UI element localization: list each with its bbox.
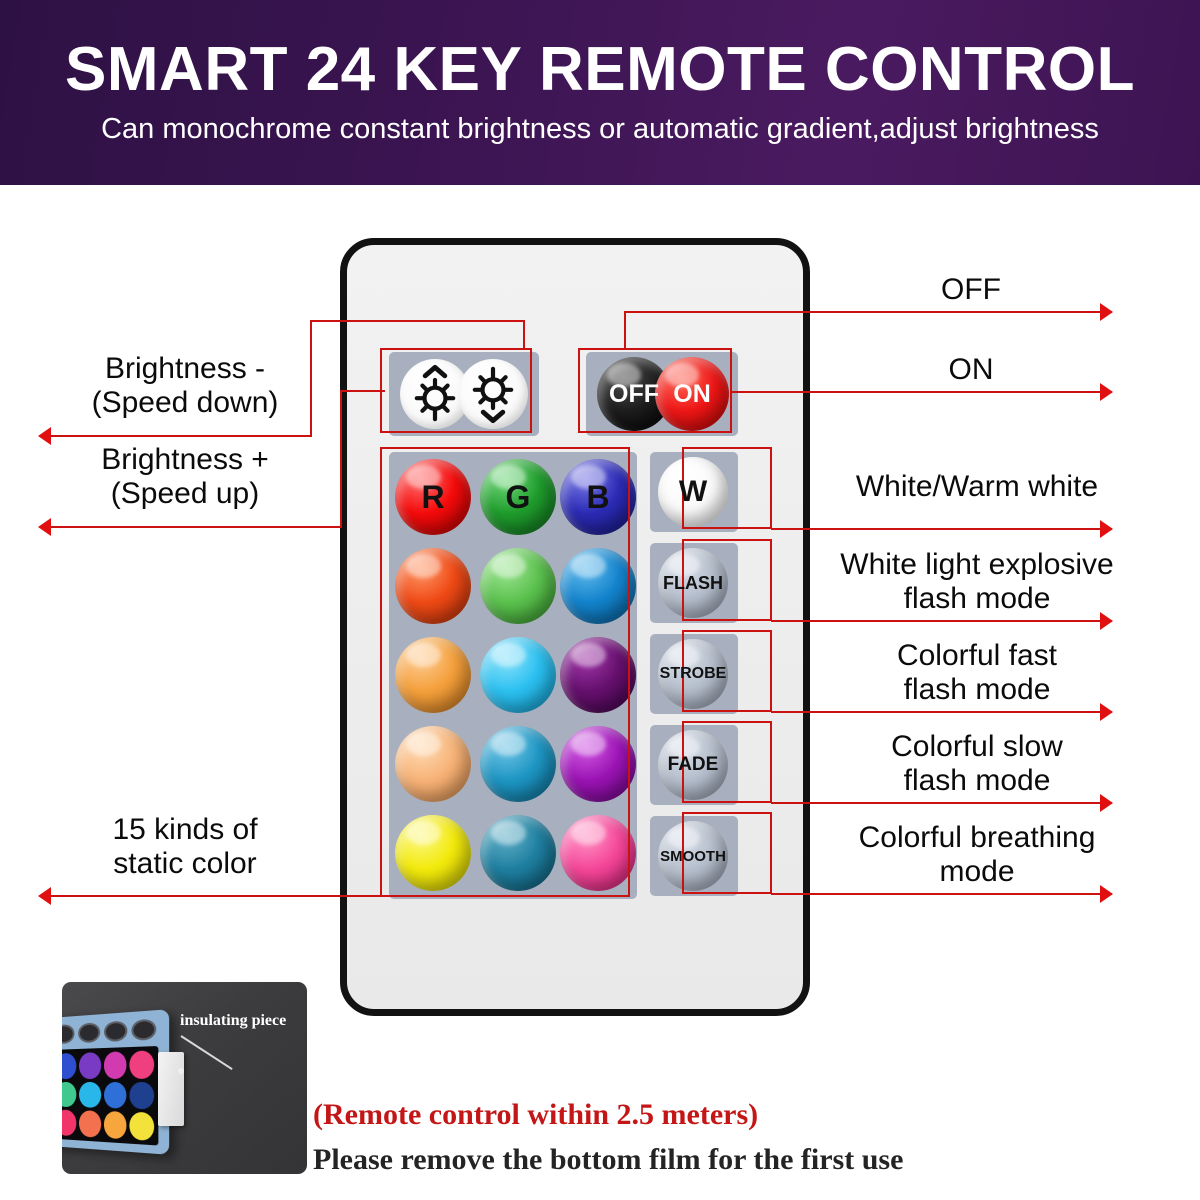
callout-on: ON [826, 353, 1116, 387]
mode-button-strobe-label: STROBE [658, 639, 728, 709]
callout-smooth: Colorful breathing mode [812, 821, 1142, 888]
header-banner: SMART 24 KEY REMOTE CONTROL Can monochro… [0, 0, 1200, 185]
leader-brightness-down-h-bot [42, 435, 312, 437]
photo-color-dot [62, 1082, 76, 1108]
mode-button-flash-label: FLASH [658, 548, 728, 618]
callout-static-colors-line1: 15 kinds of [40, 813, 330, 847]
callout-brightness-down-line1: Brightness - [40, 352, 330, 386]
mode-button-w[interactable]: W [658, 457, 728, 527]
callout-on-line1: ON [826, 353, 1116, 387]
color-button-b-label: B [560, 459, 636, 535]
photo-color-dot [130, 1050, 154, 1078]
leader-brightness-down-h-top [310, 320, 525, 322]
callout-brightness-up-line2: (Speed up) [40, 477, 330, 511]
on-button-label: ON [655, 357, 729, 431]
arrow-white [1100, 520, 1113, 538]
photo-top-button [131, 1019, 156, 1041]
photo-color-dot [79, 1111, 101, 1138]
photo-color-dot [79, 1052, 101, 1079]
page-subtitle: Can monochrome constant brightness or au… [0, 113, 1200, 146]
leader-brightness-down-v [523, 320, 525, 350]
mode-button-smooth-label: SMOOTH [658, 821, 728, 891]
arrow-static-colors [38, 887, 51, 905]
callout-fade: Colorful slow flash mode [812, 730, 1142, 797]
leader-static-colors-h [42, 895, 382, 897]
leader-brightness-up-h-top [340, 390, 385, 392]
photo-color-dot [104, 1111, 127, 1139]
mode-button-flash[interactable]: FLASH [658, 548, 728, 618]
callout-static-colors: 15 kinds of static color [40, 813, 330, 880]
photo-remote-body [62, 1009, 169, 1155]
photo-color-dot [62, 1110, 76, 1137]
on-button[interactable]: ON [655, 357, 729, 431]
leader-on-h [731, 391, 1112, 393]
mode-button-fade-label: FADE [658, 730, 728, 800]
color-button-r[interactable]: R [395, 459, 471, 535]
callout-brightness-up-line1: Brightness + [40, 443, 330, 477]
callout-strobe-line1: Colorful fast [812, 639, 1142, 673]
leader-white-h [771, 528, 1112, 530]
photo-top-button-row [62, 1016, 158, 1046]
callout-off-line1: OFF [826, 273, 1116, 307]
leader-off-v [624, 311, 626, 349]
color-button-r-label: R [395, 459, 471, 535]
photo-color-dot [62, 1053, 76, 1079]
photo-color-dot [130, 1112, 154, 1141]
callout-strobe-line2: flash mode [812, 673, 1142, 707]
callout-flash: White light explosive flash mode [812, 548, 1142, 615]
photo-color-grid [62, 1046, 158, 1146]
leader-flash-h [771, 620, 1112, 622]
photo-top-button [104, 1020, 127, 1042]
leader-fade-h [771, 802, 1112, 804]
leader-brightness-up-h-bot [42, 526, 342, 528]
insulating-piece-label: insulating piece [180, 1012, 286, 1030]
page-title: SMART 24 KEY REMOTE CONTROL [0, 34, 1200, 105]
insulating-film [158, 1052, 184, 1126]
callout-brightness-down-line2: (Speed down) [40, 386, 330, 420]
callout-smooth-line2: mode [812, 855, 1142, 889]
mode-button-strobe[interactable]: STROBE [658, 639, 728, 709]
mode-button-fade[interactable]: FADE [658, 730, 728, 800]
arrow-brightness-up [38, 518, 51, 536]
mode-button-w-label: W [658, 457, 728, 527]
insulating-piece-leader-line [180, 1035, 232, 1070]
callout-off: OFF [826, 273, 1116, 307]
insulating-piece-photo: insulating piece [62, 982, 307, 1174]
highlight-box-brightness [380, 348, 532, 433]
mode-button-smooth[interactable]: SMOOTH [658, 821, 728, 891]
callout-smooth-line1: Colorful breathing [812, 821, 1142, 855]
photo-top-button [78, 1022, 100, 1043]
photo-top-button [62, 1024, 75, 1044]
leader-strobe-h [771, 711, 1112, 713]
callout-fade-line2: flash mode [812, 764, 1142, 798]
callout-flash-line1: White light explosive [812, 548, 1142, 582]
callout-flash-line2: flash mode [812, 582, 1142, 616]
leader-smooth-h [771, 893, 1112, 895]
leader-brightness-up-v [340, 390, 342, 528]
color-button-b[interactable]: B [560, 459, 636, 535]
photo-color-dot [104, 1082, 127, 1109]
callout-brightness-up: Brightness + (Speed up) [40, 443, 330, 510]
insulating-piece-leader-dot [178, 1068, 184, 1074]
callout-brightness-down: Brightness - (Speed down) [40, 352, 330, 419]
photo-color-dot [104, 1051, 127, 1078]
photo-color-dot [79, 1082, 101, 1109]
leader-off-h [624, 311, 1112, 313]
color-button-g-label: G [480, 459, 556, 535]
photo-color-dot [130, 1082, 154, 1110]
note-remote-range: (Remote control within 2.5 meters) [313, 1098, 758, 1132]
callout-static-colors-line2: static color [40, 847, 330, 881]
callout-white-line1: White/Warm white [812, 470, 1142, 504]
color-button-g[interactable]: G [480, 459, 556, 535]
callout-fade-line1: Colorful slow [812, 730, 1142, 764]
callout-white: White/Warm white [812, 470, 1142, 504]
callout-strobe: Colorful fast flash mode [812, 639, 1142, 706]
note-remove-film: Please remove the bottom film for the fi… [313, 1143, 903, 1177]
